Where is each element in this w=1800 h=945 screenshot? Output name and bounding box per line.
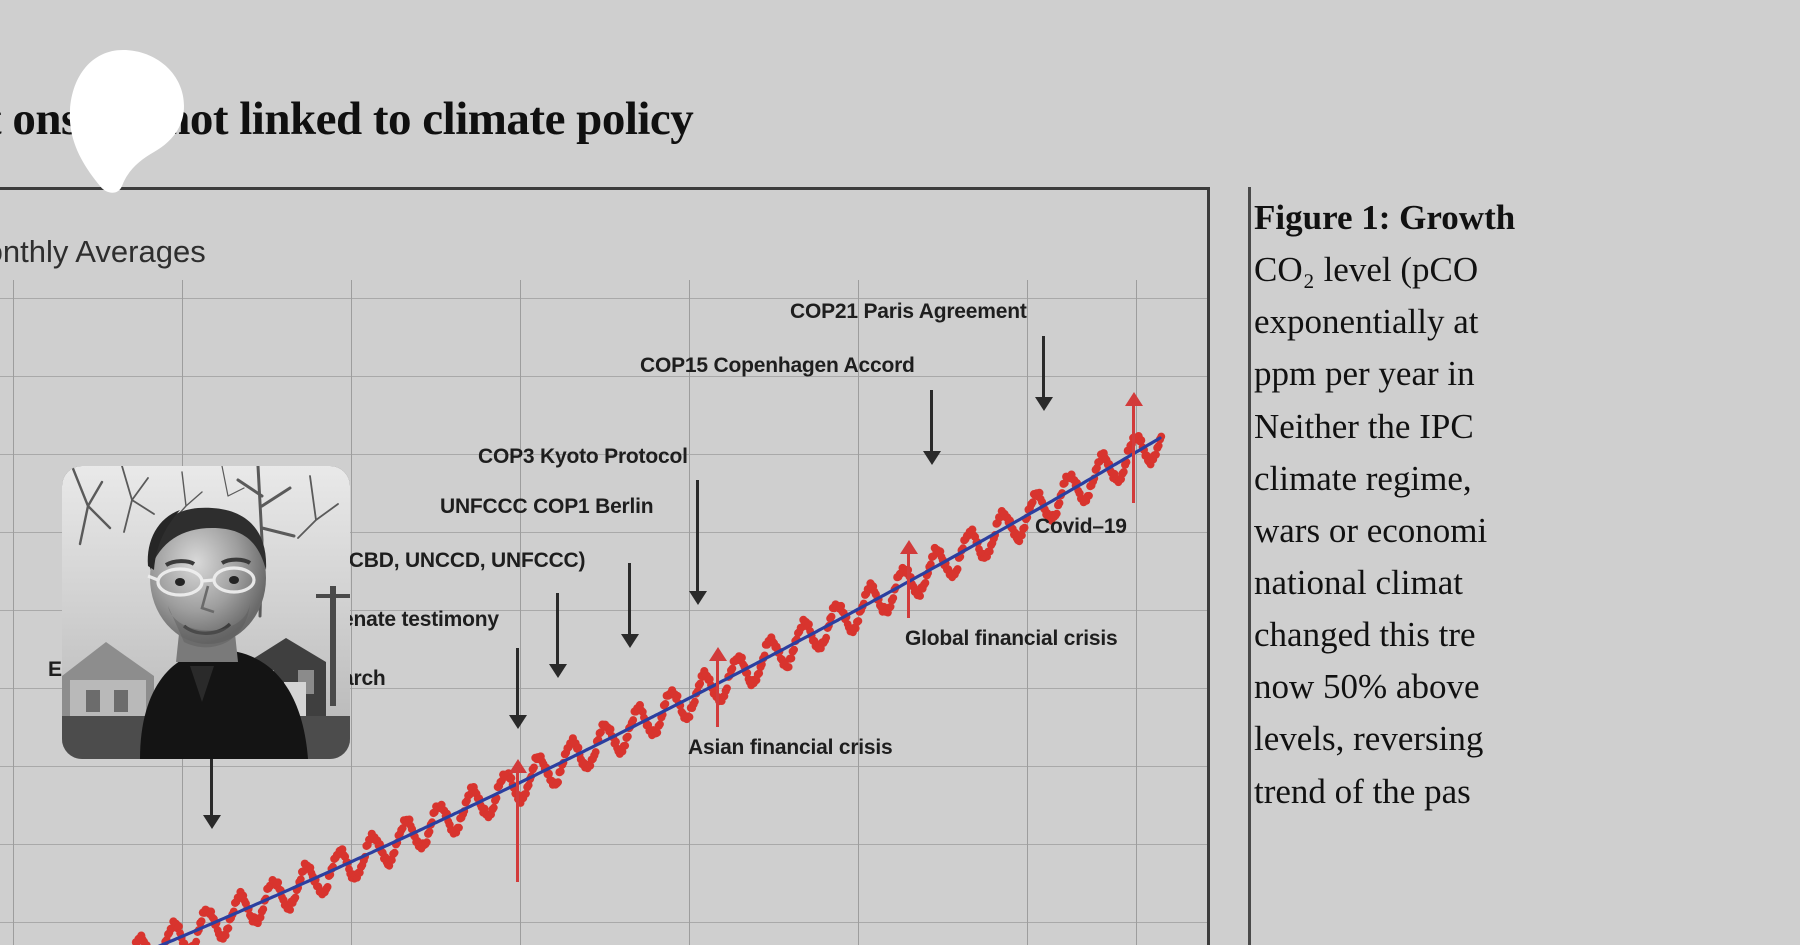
annotation-label-covid: Covid–19 [1035,515,1127,539]
screen-root: ent ons are not linked to climate policy… [0,0,1800,945]
annotation-arrow-cop3 [696,480,699,592]
annotation-arrow-cop21 [1042,336,1045,398]
annotation-label-afc: Asian financial crisis [688,736,893,760]
annotation-label-rio: (CBD, UNCCD, UNFCCC) [342,549,585,573]
caption-line: now 50% above [1254,661,1800,713]
annotation-arrow-cop1 [628,563,631,635]
annotation-label-cop3: COP3 Kyoto Protocol [478,445,688,469]
webcam-video-thumbnail[interactable] [62,466,350,759]
annotation-arrow-afc [716,660,719,727]
annotation-arrow-covid [1132,405,1135,503]
annotation-arrow-cop15 [930,390,933,452]
caption-line: Neither the IPC [1254,401,1800,453]
caption-line: exponentially at [1254,296,1800,348]
page-title: ent ons are not linked to climate policy [0,92,1040,146]
webcam-frame-image [62,466,350,759]
caption-line: levels, reversing [1254,713,1800,765]
annotation-arrow-senate [516,648,519,716]
caption-line: CO₂ level (pCO [1254,244,1800,296]
caption-line: Figure 1: Growth [1254,192,1800,244]
annotation-label-cop1: UNFCCC COP1 Berlin [440,495,653,519]
caption-figure-number: Figure 1: Growth [1254,198,1515,237]
chart-title: a Monthly Averages [0,234,206,270]
caption-line: changed this tre [1254,609,1800,661]
caption-line: national climat [1254,557,1800,609]
figure-caption: Figure 1: Growth CO₂ level (pCO exponent… [1254,187,1800,818]
annotation-label-cop21: COP21 Paris Agreement [790,300,1027,324]
annotation-label-cop15: COP15 Copenhagen Accord [640,354,915,378]
annotation-label-clipped-e: E [48,658,62,682]
annotation-arrow-gfc [907,553,910,618]
annotation-arrow-earliest [210,750,213,816]
caption-line: trend of the pas [1254,766,1800,818]
caption-line: ppm per year in [1254,348,1800,400]
annotation-label-senate: enate testimony [342,608,499,632]
caption-line: wars or economi [1254,505,1800,557]
annotation-label-gfc: Global financial crisis [905,627,1117,651]
caption-column: Figure 1: Growth CO₂ level (pCO exponent… [1248,187,1800,945]
annotation-arrow-early-red [516,772,519,882]
annotation-arrow-rio [556,593,559,665]
caption-line: climate regime, [1254,453,1800,505]
